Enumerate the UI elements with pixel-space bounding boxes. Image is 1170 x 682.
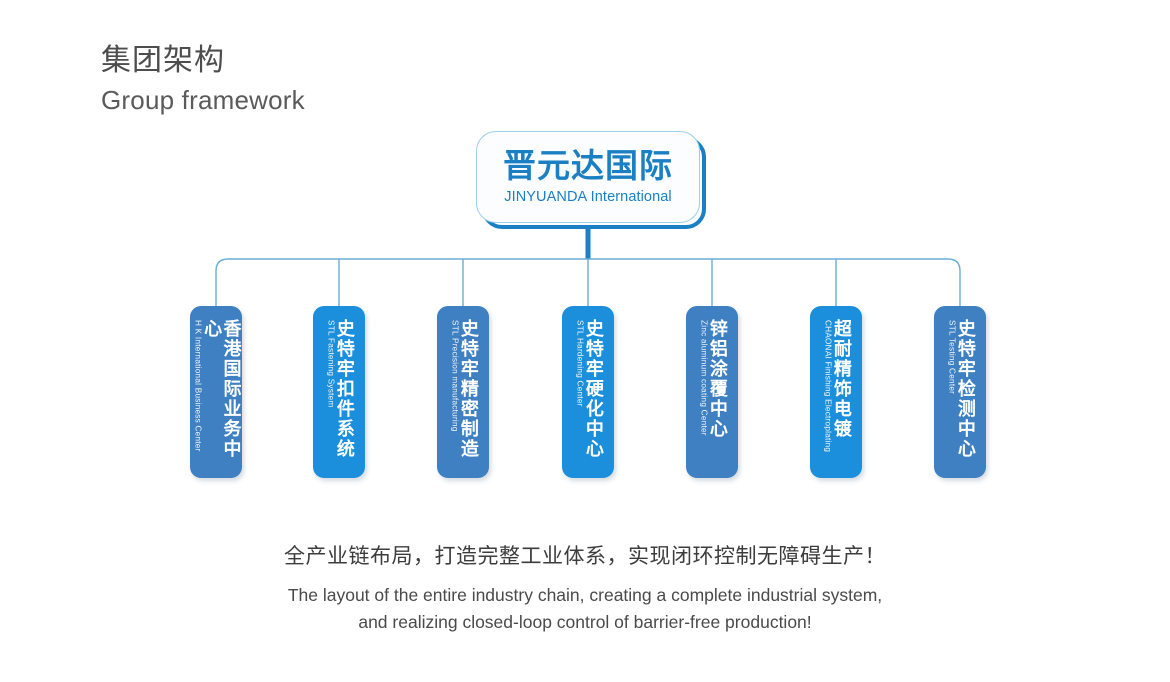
root-node-label-en: JINYUANDA International [504,189,672,205]
org-node-label-cn: 锌铝涂覆中心 [707,319,726,439]
org-node-zinc-aluminum-coating-center[interactable]: 锌铝涂覆中心 Zinc aluminum coating Center [686,306,738,478]
org-node-label-cn: 史特牢硬化中心 [583,319,602,459]
org-node-stl-hardening-center[interactable]: 史特牢硬化中心 STL Hardening Center [562,306,614,478]
page-title: 集团架构 Group framework [101,46,305,113]
caption-block: 全产业链布局，打造完整工业体系，实现闭环控制无障碍生产！ The layout … [0,540,1170,636]
org-node-stl-fastening-system[interactable]: 史特牢扣件系统 STL Fastening System [313,306,365,478]
root-node-text: 晋元达国际 JINYUANDA International [476,131,700,223]
org-node-stl-testing-center[interactable]: 史特牢检测中心 STL Testing Center [934,306,986,478]
org-node-label-en: STL Hardening Center [575,320,583,407]
org-node-label-cn: 史特牢精密制造 [458,319,477,459]
connector-drops [339,259,836,306]
org-node-label-cn: 史特牢检测中心 [955,319,974,459]
org-node-stl-precision-manufacturing[interactable]: 史特牢精密制造 STL Precision manufacturing [437,306,489,478]
caption-line-cn: 全产业链布局，打造完整工业体系，实现闭环控制无障碍生产！ [0,540,1170,570]
org-node-chaonai-finishing-electroplating[interactable]: 超耐精饰电镀 CHAONAI Finishing Electroplating [810,306,862,478]
caption-line-en-2: and realizing closed-loop control of bar… [358,612,811,632]
root-node-label-cn: 晋元达国际 [503,149,673,184]
org-node-label-cn: 史特牢扣件系统 [334,319,353,459]
page-title-en: Group framework [101,87,305,113]
root-node[interactable]: 晋元达国际 JINYUANDA International [476,131,700,223]
caption-line-en-1: The layout of the entire industry chain,… [288,585,882,605]
page-title-cn: 集团架构 [101,46,305,76]
connector-bus [216,259,960,306]
org-node-label-en: STL Precision manufacturing [450,320,458,432]
org-node-hk-international-business-center[interactable]: 香港国际业务中心 H K International Business Cent… [190,306,242,478]
org-node-label-en: Zinc aluminum coating Center [699,320,707,436]
caption-line-en: The layout of the entire industry chain,… [0,582,1170,636]
org-node-label-cn: 香港国际业务中心 [202,319,241,478]
org-node-label-en: STL Fastening System [326,320,334,408]
org-node-label-en: H K International Business Center [193,320,201,452]
org-node-label-en: CHAONAI Finishing Electroplating [823,320,831,452]
org-node-label-en: STL Testing Center [947,320,955,394]
org-node-label-cn: 超耐精饰电镀 [831,319,850,439]
